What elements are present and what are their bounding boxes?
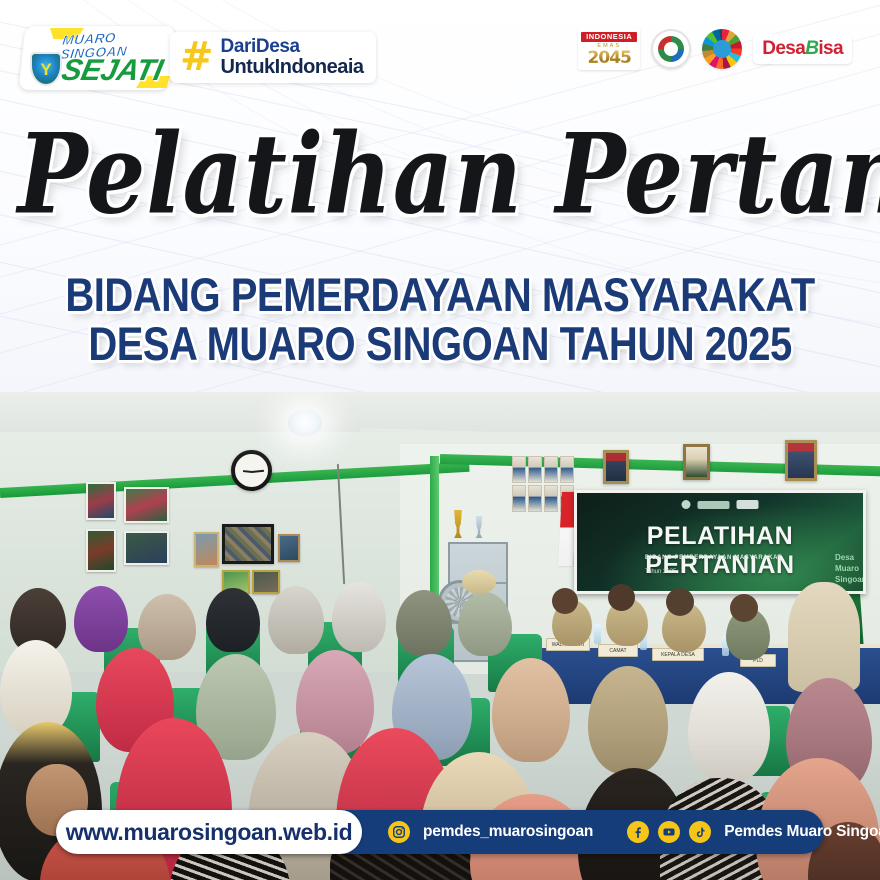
attendee-hijab — [0, 640, 72, 736]
page-title-script: PelatihanPertanian — [18, 119, 863, 230]
page-subtitle: BIDANG PEMERDAYAAN MASYARAKAT DESA MUARO… — [0, 272, 880, 362]
header-band: MUARO SINGOAN SEJATI Y # DariDesa UntukI… — [0, 0, 880, 392]
title-word-pelatihan: Pelatihan — [18, 109, 523, 239]
official-portrait-president — [603, 450, 629, 484]
wall-photo-frame — [252, 570, 280, 594]
attendee — [268, 586, 324, 654]
hash-icon: # — [180, 41, 212, 73]
social-group[interactable]: Pemdes Muaro Singoan — [627, 821, 880, 843]
desa-bisa-part1: Desa — [762, 38, 805, 60]
event-backdrop-banner: PELATIHAN PERTANIAN BIDANG PEMBERDAYAAN … — [574, 490, 866, 594]
desa-bisa-logo: DesaBisa — [753, 34, 852, 64]
wall-photo-frame — [194, 532, 219, 567]
banner-logo-wordmark — [698, 501, 730, 509]
official-head — [608, 584, 635, 611]
wall-clock-icon — [231, 450, 272, 491]
subtitle-line-2: DESA MUARO SINGOAN TAHUN 2025 — [0, 321, 880, 369]
official-head — [730, 594, 758, 622]
title-word-pertanian: Pertanian — [556, 109, 880, 239]
footer-bar: www.muarosingoan.web.id pemdes_muarosing… — [56, 810, 824, 854]
hashtag-badge: # DariDesa UntukIndoneaia — [170, 32, 376, 83]
partner-logo-row: INDONESIA EMAS 2045 DesaBisa — [578, 28, 852, 70]
banner-subtitle-year: Tahun 2025 — [645, 569, 676, 575]
ceiling-lamp-icon — [288, 410, 322, 436]
wall-photo-frame — [278, 534, 300, 562]
certificate — [512, 485, 526, 512]
name-placard: CAMAT — [598, 644, 638, 657]
banner-logo-mark — [682, 500, 691, 509]
emas-label-year: 2045 — [588, 50, 631, 67]
instagram-group[interactable]: pemdes_muarosingoan — [388, 821, 593, 843]
certificate — [560, 456, 574, 483]
attendee — [458, 592, 512, 656]
wall-green-corner — [430, 456, 439, 606]
indonesia-emas-2045-logo: INDONESIA EMAS 2045 — [578, 28, 640, 70]
attendee-hijab — [788, 582, 860, 692]
wall-collage-frame — [222, 524, 274, 564]
official-portrait-vice-president — [785, 440, 817, 481]
banner-logo-badge — [737, 500, 759, 509]
event-photograph: PELATIHAN PERTANIAN BIDANG PEMBERDAYAAN … — [0, 392, 880, 880]
banner-logo-row — [682, 500, 759, 509]
desa-bisa-part3: isa — [818, 38, 843, 60]
water-bottle — [594, 624, 601, 644]
banner-subtitle-desa: Desa Muaro Singoan — [835, 553, 866, 585]
emas-label-indonesia: INDONESIA — [581, 32, 637, 42]
certificate — [512, 456, 526, 483]
tiktok-icon[interactable] — [689, 821, 711, 843]
wall-photo-frame — [124, 531, 169, 565]
wall-photo-frame — [86, 529, 116, 572]
kemendes-logo-icon — [651, 29, 691, 69]
brand-name-line2: SEJATI — [59, 57, 175, 86]
attendee — [396, 590, 452, 656]
instagram-icon[interactable] — [388, 821, 410, 843]
facebook-icon[interactable] — [627, 821, 649, 843]
banner-subtitle-bidang: BIDANG PEMBERDAYAAN MASYARAKAT — [645, 555, 782, 561]
certificate — [528, 485, 542, 512]
hashtag-line1: DariDesa — [221, 37, 364, 57]
garuda-emblem-icon — [683, 444, 710, 480]
desa-bisa-part2: B — [805, 38, 818, 60]
official-head — [552, 588, 578, 614]
attendee-hat — [462, 570, 496, 594]
hashtag-line2: UntukIndoneaia — [221, 57, 364, 78]
brand-logo-muaro-singoan-sejati: MUARO SINGOAN SEJATI Y — [22, 26, 172, 90]
official-head — [666, 588, 694, 616]
social-account-name: Pemdes Muaro Singoan — [724, 823, 880, 841]
instagram-handle: pemdes_muarosingoan — [423, 823, 593, 841]
attendee — [332, 582, 386, 652]
attendee — [74, 586, 128, 652]
attendee — [206, 588, 260, 652]
poster-canvas: MUARO SINGOAN SEJATI Y # DariDesa UntukI… — [0, 0, 880, 880]
kemendes-logo-inner — [658, 36, 684, 62]
wall-photo-frame — [86, 482, 116, 520]
banner-title: PELATIHAN PERTANIAN — [577, 522, 863, 580]
certificate — [528, 456, 542, 483]
sdg-wheel-logo-icon — [702, 29, 742, 69]
youtube-icon[interactable] — [658, 821, 680, 843]
wall-photo-frame — [124, 487, 169, 523]
certificate — [544, 485, 558, 512]
subtitle-line-1: BIDANG PEMERDAYAAN MASYARAKAT — [0, 272, 880, 320]
website-url-pill[interactable]: www.muarosingoan.web.id — [56, 810, 362, 854]
certificate — [544, 456, 558, 483]
